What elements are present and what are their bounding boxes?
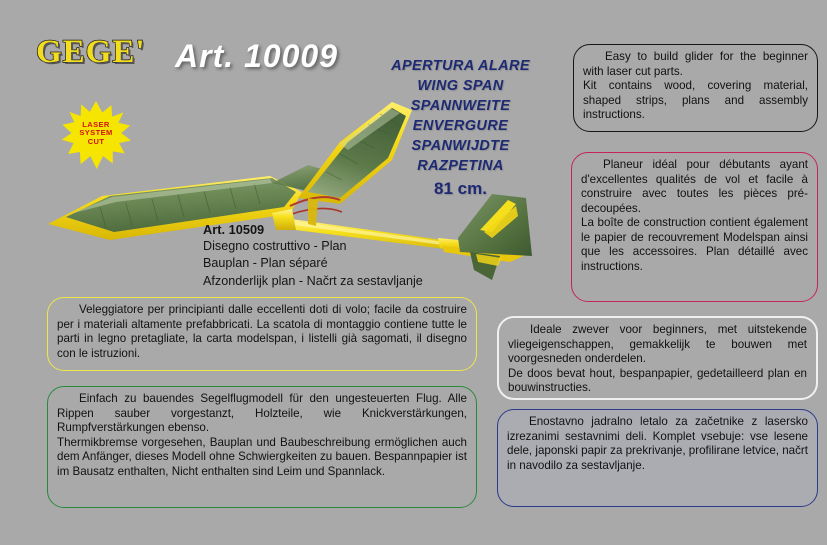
- wingspan-label-de: SPANNWEITE: [373, 96, 548, 116]
- german-paragraph-2: Thermikbremse vorgesehen, Bauplan und Ba…: [57, 436, 467, 480]
- plan-line-nl-sl: Afzonderlijk plan - Načrt za sestavljanj…: [203, 273, 468, 290]
- dutch-paragraph-1: Ideale zwever voor beginners, met uitste…: [508, 323, 807, 367]
- plan-line-de-fr: Bauplan - Plan séparé: [203, 255, 468, 272]
- german-paragraph-1: Einfach zu bauendes Segelflugmodell für …: [57, 392, 467, 436]
- wingspan-label-sl: RAZPETINA: [373, 156, 548, 176]
- description-box-slovenian: Enostavno jadralno letalo za začetnike z…: [497, 409, 818, 507]
- italian-paragraph-1: Veleggiatore per principianti dalle ecce…: [57, 303, 467, 361]
- wingspan-label-en: WING SPAN: [373, 76, 548, 96]
- slovenian-paragraph-1: Enostavno jadralno letalo za začetnike z…: [507, 415, 808, 473]
- plan-article-number: Art. 10509: [203, 221, 468, 238]
- wingspan-heading: APERTURA ALARE WING SPAN SPANNWEITE ENVE…: [373, 56, 548, 199]
- plan-line-it-en: Disegno costruttivo - Plan: [203, 238, 468, 255]
- wingspan-value: 81 cm.: [373, 179, 548, 199]
- brand-logo: GEGE': [36, 34, 146, 71]
- description-box-french: Planeur idéal pour débutants ayant d'exc…: [571, 152, 818, 302]
- english-paragraph-2: Kit contains wood, covering material, sh…: [583, 79, 808, 123]
- description-box-italian: Veleggiatore per principianti dalle ecce…: [47, 297, 477, 371]
- wingspan-label-nl: SPANWIJDTE: [373, 136, 548, 156]
- wingspan-label-it: APERTURA ALARE: [373, 56, 548, 76]
- wingspan-label-fr: ENVERGURE: [373, 116, 548, 136]
- description-box-dutch: Ideale zwever voor beginners, met uitste…: [497, 316, 818, 400]
- description-box-german: Einfach zu bauendes Segelflugmodell für …: [47, 386, 477, 508]
- poster-canvas: GEGE' Art. 10009 LASER SYSTEM CUT: [0, 0, 827, 545]
- dutch-paragraph-2: De doos bevat hout, bespanpapier, gedeta…: [508, 367, 807, 396]
- plan-info-block: Art. 10509 Disegno costruttivo - Plan Ba…: [203, 221, 468, 290]
- article-number: Art. 10009: [175, 38, 338, 75]
- french-paragraph-2: La boîte de construction contient égalem…: [581, 216, 808, 274]
- description-box-english: Easy to build glider for the beginner wi…: [573, 44, 818, 132]
- french-paragraph-1: Planeur idéal pour débutants ayant d'exc…: [581, 158, 808, 216]
- english-paragraph-1: Easy to build glider for the beginner wi…: [583, 50, 808, 79]
